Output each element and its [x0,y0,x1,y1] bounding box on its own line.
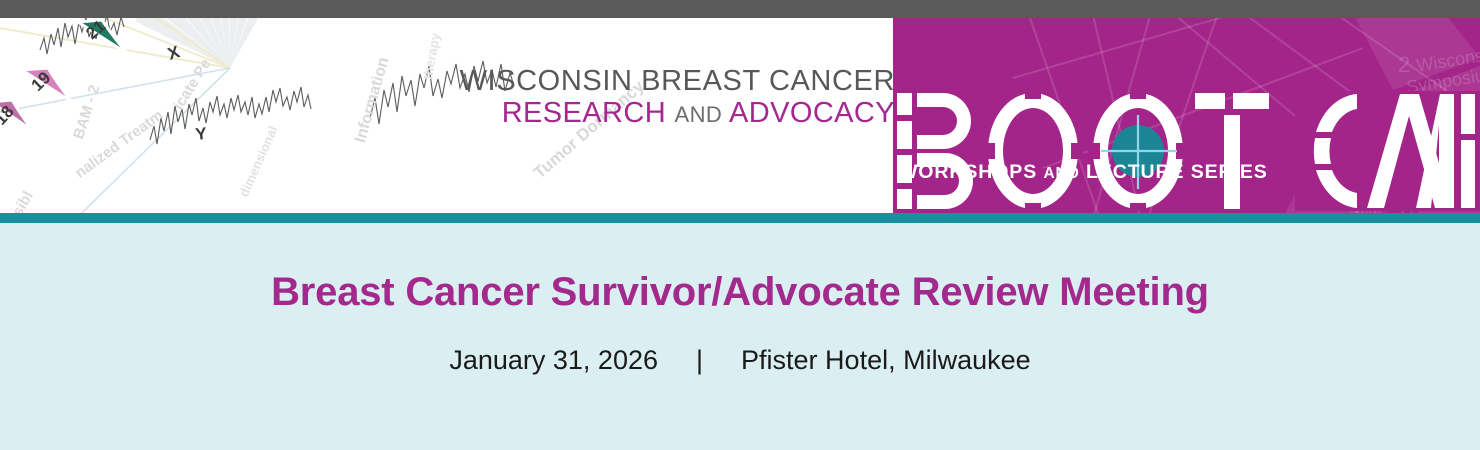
main-content: Breast Cancer Survivor/Advocate Review M… [0,223,1480,450]
boot-camp-logo [895,91,1480,211]
detail-separator: | [658,345,741,376]
wordmark-line-2: RESEARCH AND ADVOCACY [455,97,895,129]
header-banner: 16 17 18 19 21 20 22 20 21 22 X Y [0,18,1480,213]
organization-wordmark: WISCONSIN BREAST CANCER RESEARCH AND ADV… [455,66,895,130]
teal-divider [0,213,1480,223]
wordmark-line-1: WISCONSIN BREAST CANCER [455,66,895,97]
subtitle-lecture-series: LECTURE SERIES [1086,161,1268,183]
event-date: January 31, 2026 [449,345,658,375]
boot-camp-panel: Wisconsin B Symposium Innovation and Ad … [893,18,1480,213]
page-root: 16 17 18 19 21 20 22 20 21 22 X Y [0,0,1480,450]
svg-text:X: X [165,42,182,64]
page-title: Breast Cancer Survivor/Advocate Review M… [0,270,1480,315]
wordmark-and: AND [675,102,723,127]
wordmark-research: RESEARCH [502,97,666,129]
event-location: Pfister Hotel, Milwaukee [741,345,1031,375]
subtitle-workshops: WORKSHOPS [899,161,1037,183]
top-dark-bar [0,0,1480,18]
boot-camp-subtitle: WORKSHOPS AND LECTURE SERIES [899,161,1268,184]
event-details: January 31, 2026|Pfister Hotel, Milwauke… [0,345,1480,376]
wordmark-advocacy: ADVOCACY [729,97,895,129]
svg-text:Y: Y [194,124,208,144]
subtitle-and: AND [1043,165,1079,182]
panel-faded-number-2: 2 [1398,52,1410,78]
